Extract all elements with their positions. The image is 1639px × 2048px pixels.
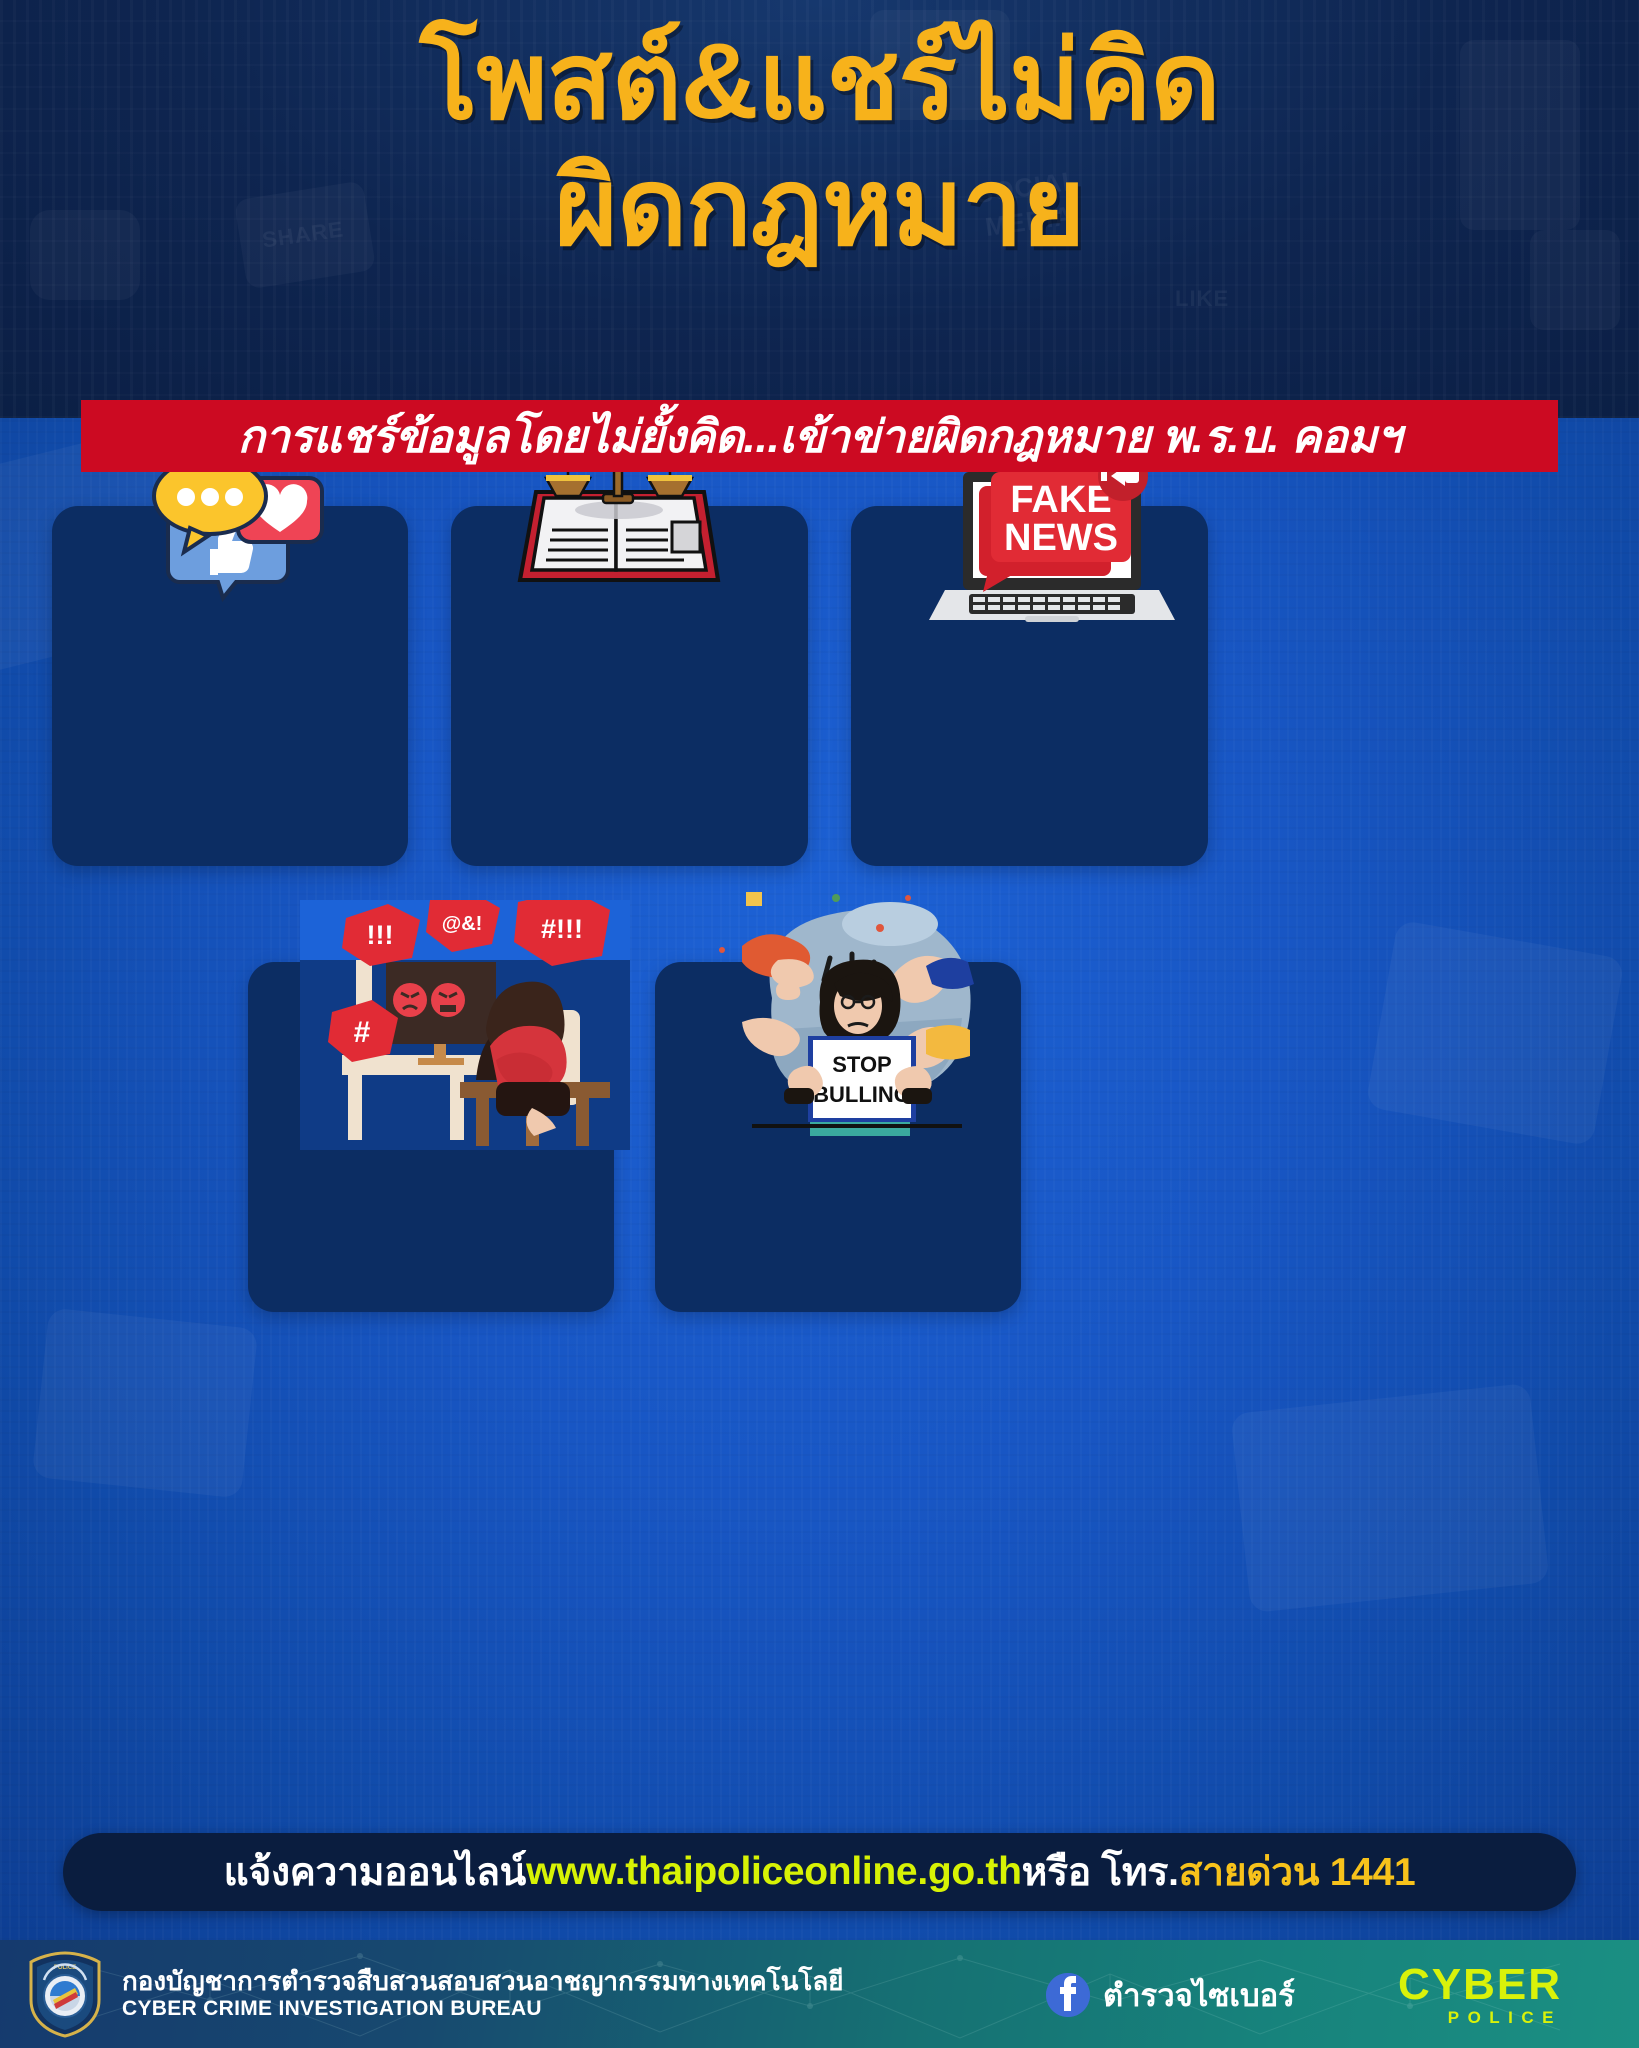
social-reactions-icon bbox=[132, 452, 332, 602]
facebook-group[interactable]: ตำรวจไซเบอร์ bbox=[1046, 1970, 1295, 2020]
burst-text-3: #!!! bbox=[541, 914, 583, 944]
cyber-police-logo: CYBER POLICE bbox=[1398, 1964, 1562, 2028]
footer-org-thai: กองบัญชาการตำรวจสืบสวนสอบสวนอาชญากรรมทาง… bbox=[122, 1967, 844, 1996]
footer-section: POLICE กองบัญชาการตำรวจสืบสวนสอบสวนอาชญา… bbox=[0, 1940, 1639, 2048]
subtitle-banner-text: การแชร์ข้อมูลโดยไม่ยั้งคิด...เข้าข่ายผิด… bbox=[238, 400, 1401, 472]
infographic-poster: SOCIAL MEDIA LIKE SHARE โพสต์&แชร์ไม่คิด… bbox=[0, 0, 1639, 2048]
contact-bar[interactable]: แจ้งความออนไลน์ www.thaipoliceonline.go.… bbox=[63, 1833, 1576, 1911]
burst-text-2: @&! bbox=[442, 913, 483, 935]
footer-org-block: POLICE กองบัญชาการตำรวจสืบสวนสอบสวนอาชญา… bbox=[24, 1950, 844, 2038]
cyber-police-logo-sub: POLICE bbox=[1398, 2008, 1562, 2028]
burst-text-4: # bbox=[354, 1016, 371, 1049]
contact-prefix: แจ้งความออนไลน์ bbox=[224, 1841, 526, 1903]
contact-website-link[interactable]: www.thaipoliceonline.go.th bbox=[526, 1850, 1022, 1894]
fake-news-line2-text: NEWS bbox=[1004, 517, 1118, 559]
contact-hotline[interactable]: สายด่วน 1441 bbox=[1179, 1841, 1416, 1903]
stop-bullying-line1-text: STOP bbox=[832, 1052, 892, 1077]
page-title: โพสต์&แชร์ไม่คิด ผิดกฎหมาย bbox=[0, 18, 1639, 271]
body-ghost-shape-3 bbox=[32, 1307, 259, 1498]
footer-org-names: กองบัญชาการตำรวจสืบสวนสอบสวนอาชญากรรมทาง… bbox=[122, 1967, 844, 2020]
body-ghost-shape-4 bbox=[1230, 1383, 1549, 1613]
header-section: SOCIAL MEDIA LIKE SHARE โพสต์&แชร์ไม่คิด… bbox=[0, 0, 1639, 418]
cyberbullying-victim-icon: !!! @&! #!!! # bbox=[300, 900, 630, 1150]
facebook-icon[interactable] bbox=[1046, 1973, 1090, 2017]
fake-news-laptop-icon: FAKE NEWS bbox=[925, 450, 1175, 640]
ghost-text-like: LIKE bbox=[1175, 286, 1229, 312]
cyber-police-logo-main: CYBER bbox=[1398, 1964, 1562, 2006]
facebook-page-name[interactable]: ตำรวจไซเบอร์ bbox=[1103, 1970, 1295, 2020]
contact-middle: หรือ โทร. bbox=[1022, 1841, 1179, 1903]
footer-org-english: CYBER CRIME INVESTIGATION BUREAU bbox=[122, 1997, 844, 2021]
stop-bullying-icon: STOP BULLING bbox=[712, 880, 1002, 1170]
law-book-scales-icon bbox=[508, 448, 730, 624]
burst-text-1: !!! bbox=[367, 920, 394, 950]
subtitle-banner: การแชร์ข้อมูลโดยไม่ยั้งคิด...เข้าข่ายผิด… bbox=[81, 400, 1558, 472]
police-crest-icon: POLICE bbox=[24, 1950, 106, 2038]
fake-news-line1-text: FAKE bbox=[1010, 479, 1111, 521]
body-ghost-shape-2 bbox=[1365, 919, 1624, 1146]
